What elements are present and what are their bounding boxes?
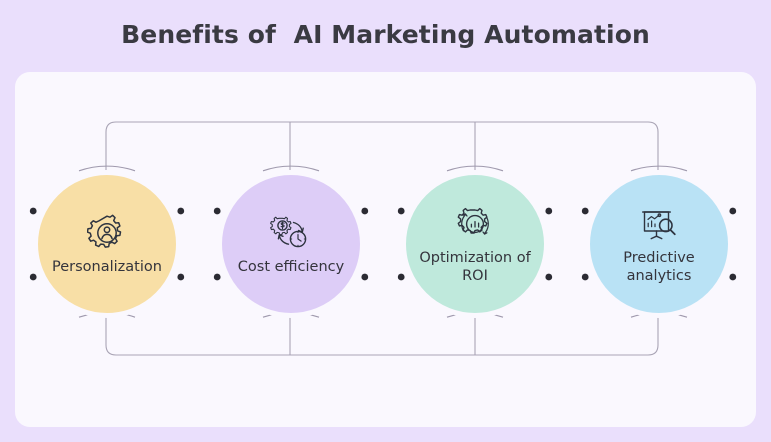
- presentation-chart-magnifier-icon: [636, 204, 682, 244]
- node-optimization-of-roi[interactable]: Optimization of ROI: [375, 144, 575, 344]
- node-disc-2: Cost efficiency: [217, 170, 365, 318]
- node-label-4: Predictive analytics: [613, 249, 704, 285]
- node-disc-3: Optimization of ROI: [401, 170, 549, 318]
- gear-user-icon: [84, 213, 130, 253]
- node-label-1: Personalization: [42, 258, 172, 276]
- gear-money-clock-icon: [268, 213, 314, 253]
- node-label-2: Cost efficiency: [228, 258, 354, 276]
- node-personalization[interactable]: Personalization: [7, 144, 207, 344]
- node-cost-efficiency[interactable]: Cost efficiency: [191, 144, 391, 344]
- node-disc-1: Personalization: [33, 170, 181, 318]
- infographic-canvas: Benefits of AI Marketing Automation: [0, 0, 771, 442]
- node-predictive-analytics[interactable]: Predictive analytics: [559, 144, 759, 344]
- node-disc-4: Predictive analytics: [585, 170, 733, 318]
- gear-bar-chart-refresh-icon: [452, 204, 498, 244]
- node-label-3: Optimization of ROI: [409, 249, 540, 285]
